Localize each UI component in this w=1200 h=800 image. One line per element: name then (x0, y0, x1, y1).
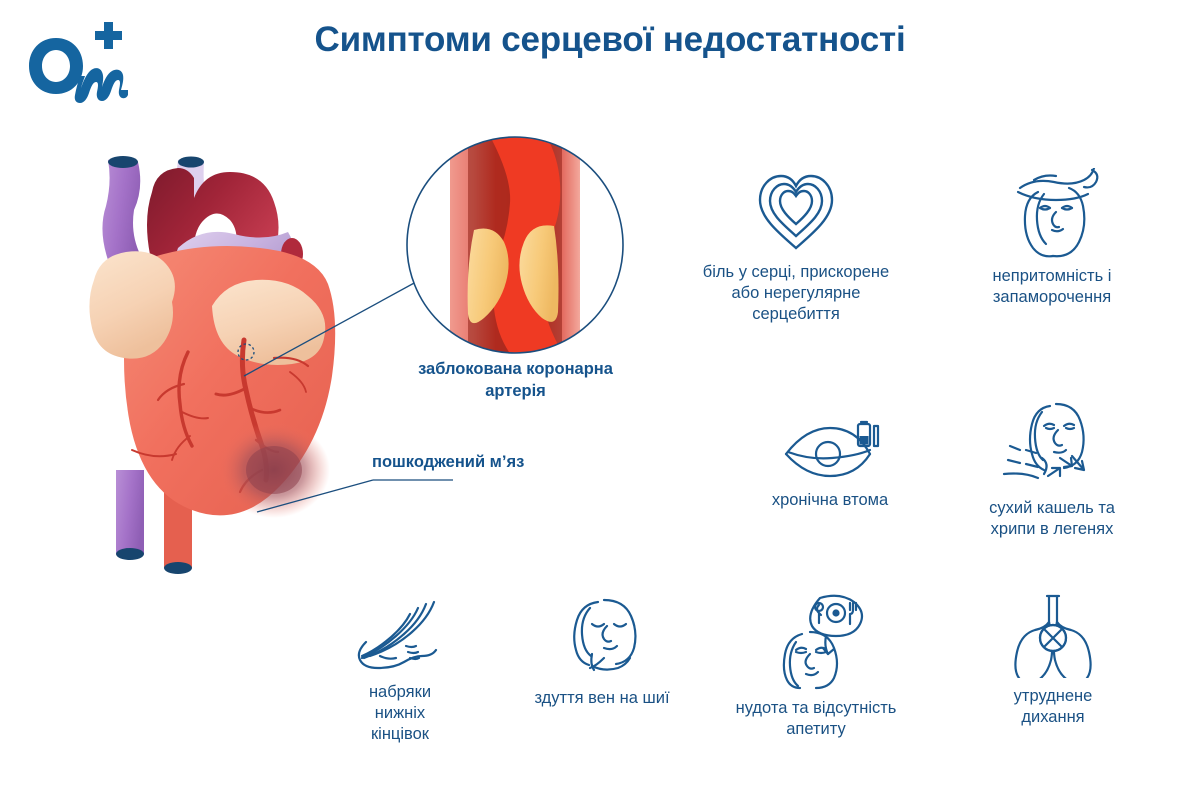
symptom-neck-veins[interactable]: здуття вен на шиї (504, 596, 700, 709)
label-line: сухий кашель та (989, 499, 1115, 517)
label-line: апетиту (786, 720, 846, 738)
label-line: нижніх (375, 704, 425, 722)
symptom-fainting[interactable]: непритомність і запаморочення (948, 168, 1156, 308)
no-appetite-face-icon (760, 592, 872, 690)
symptom-chest-pain[interactable]: біль у серці, прискорене або нерегулярне… (682, 168, 910, 325)
label-line: набряки (369, 683, 431, 701)
symptom-dry-cough-label: сухий кашель та хрипи в легенях (989, 498, 1115, 540)
damaged-muscle-label: пошкоджений м’яз (372, 452, 582, 473)
symptom-difficult-breathing[interactable]: утруднене дихання (962, 592, 1144, 728)
symptom-chronic-fatigue-label: хронічна втома (772, 490, 888, 511)
label-line: хрипи в легенях (991, 520, 1114, 538)
symptom-fainting-label: непритомність і запаморочення (993, 266, 1112, 308)
label-line: кінцівок (371, 725, 429, 743)
symptom-neck-veins-label: здуття вен на шиї (534, 688, 669, 709)
label-line: біль у серці, прискорене (703, 263, 889, 281)
neck-veins-face-icon (552, 596, 652, 680)
page-title: Симптоми серцевої недостатності (250, 20, 970, 60)
symptom-chest-pain-label: біль у серці, прискорене або нерегулярне… (703, 262, 889, 325)
label-line: здуття вен на шиї (534, 689, 669, 707)
label-line: хронічна втома (772, 491, 888, 509)
symptom-nausea-label: нудота та відсутність апетиту (736, 698, 897, 740)
label-line: або нерегулярне (732, 284, 861, 302)
label-line: дихання (1021, 708, 1084, 726)
lungs-blocked-icon (1005, 592, 1101, 678)
on-plus-logo[interactable] (18, 16, 128, 111)
label-line: серцебиття (752, 305, 840, 323)
symptom-nausea[interactable]: нудота та відсутність апетиту (702, 592, 930, 740)
symptom-chronic-fatigue[interactable]: хронічна втома (732, 418, 928, 511)
artery-label-line1: заблокована коронарна (418, 360, 613, 378)
symptom-dry-cough[interactable]: сухий кашель та хрипи в легенях (946, 398, 1158, 540)
dizzy-face-icon (1000, 168, 1104, 258)
blocked-artery-label: заблокована коронарна артерія (378, 358, 653, 403)
swollen-foot-icon (350, 598, 450, 674)
artery-label-line2: артерія (485, 382, 546, 400)
eye-low-battery-icon (778, 418, 882, 482)
symptom-edema-label: набряки нижніх кінцівок (369, 682, 431, 745)
human-heart-illustration (60, 140, 400, 580)
coughing-face-icon (998, 398, 1106, 490)
label-line: нудота та відсутність (736, 699, 897, 717)
label-line: непритомність і (993, 267, 1112, 285)
triple-heart-outline-icon (750, 168, 842, 254)
symptom-difficult-breathing-label: утруднене дихання (1014, 686, 1093, 728)
symptom-edema[interactable]: набряки нижніх кінцівок (316, 598, 484, 745)
label-line: утруднене (1014, 687, 1093, 705)
blocked-artery-magnifier (404, 134, 626, 356)
label-line: запаморочення (993, 288, 1111, 306)
